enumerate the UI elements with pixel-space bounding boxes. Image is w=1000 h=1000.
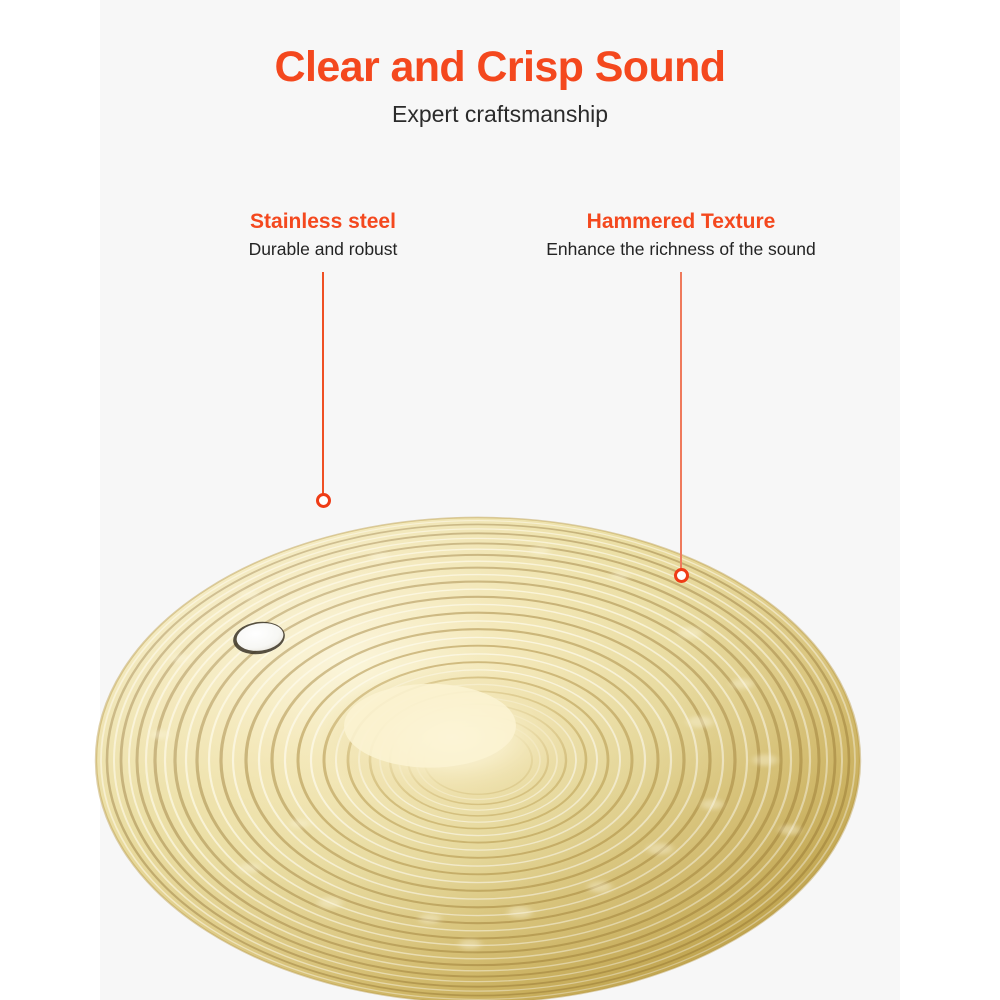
callout-title: Stainless steel [183,210,463,234]
ring-marker-icon [316,493,331,508]
callout-subtitle: Enhance the richness of the sound [531,239,831,260]
ring-marker-icon [674,568,689,583]
cymbal-body [96,517,860,1000]
cymbal-image [0,0,1000,1000]
cymbal-graphic [0,0,1000,1000]
page-subtitle: Expert craftsmanship [0,102,1000,127]
callout-stainless-steel: Stainless steel Durable and robust [183,210,463,260]
leader-line-hammered-texture [680,272,682,575]
callout-title: Hammered Texture [531,210,831,234]
page-title: Clear and Crisp Sound [0,44,1000,90]
product-infographic: Clear and Crisp Sound Expert craftsmansh… [0,0,1000,1000]
callout-subtitle: Durable and robust [183,239,463,260]
callout-hammered-texture: Hammered Texture Enhance the richness of… [531,210,831,260]
leader-line-stainless-steel [322,272,324,500]
header-block: Clear and Crisp Sound Expert craftsmansh… [0,44,1000,128]
